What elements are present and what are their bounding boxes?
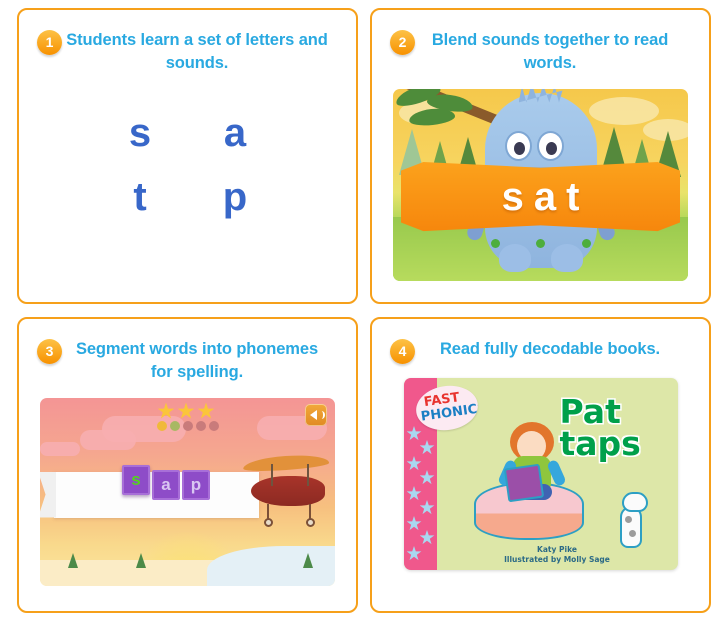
step-card-3: 3 Segment words into phonemes for spelli…: [17, 317, 358, 613]
star-icon: [407, 456, 422, 471]
letter-grid: s a t p: [93, 101, 283, 229]
dog-illustration: [616, 492, 650, 548]
phoneme-dot: [491, 239, 500, 248]
progress-pips: [157, 421, 219, 431]
step-number-badge: 4: [390, 339, 415, 364]
banner-letter: s: [502, 177, 524, 217]
card-header: 1 Students learn a set of letters and so…: [19, 10, 356, 75]
star-icon: [420, 470, 435, 485]
dog-head: [622, 492, 648, 512]
star-icon: [407, 546, 422, 561]
tree-shape: [303, 553, 313, 568]
monster-eye: [537, 131, 564, 161]
book-title-line-2: taps: [560, 428, 672, 460]
dog-body: [620, 506, 642, 548]
plane-wheel: [264, 518, 273, 527]
plane-wheel: [306, 518, 315, 527]
cloud-shape: [589, 97, 659, 125]
letter-tile: a: [188, 101, 283, 165]
card-header: 2 Blend sounds together to read words.: [372, 10, 709, 75]
progress-pip-empty: [209, 421, 219, 431]
star-icon: [407, 426, 422, 441]
step-card-4: 4 Read fully decodable books. FAST PHONI…: [370, 317, 711, 613]
blending-game-screenshot: s a t: [393, 89, 688, 281]
banner-letter: a: [534, 177, 556, 217]
star-icon: [158, 403, 175, 420]
step-number-badge: 3: [37, 339, 62, 364]
tree-shape: [68, 553, 78, 568]
dog-spot: [625, 516, 632, 523]
plane-body: [251, 476, 325, 506]
progress-pip-empty: [183, 421, 193, 431]
step-number-badge: 2: [390, 30, 415, 55]
word-banner: s a t: [401, 161, 680, 233]
star-icon: [407, 516, 422, 531]
letter-tile: p: [188, 165, 283, 229]
step-title: Blend sounds together to read words.: [415, 29, 693, 75]
star-icon: [420, 500, 435, 515]
step-card-1: 1 Students learn a set of letters and so…: [17, 8, 358, 304]
card-header: 4 Read fully decodable books.: [372, 319, 709, 364]
star-rating: [158, 403, 215, 420]
progress-pip-coin: [157, 421, 167, 431]
star-icon: [178, 403, 195, 420]
book-title: Pat taps: [560, 396, 672, 460]
tree-shape: [136, 553, 146, 568]
cloud-shape: [40, 442, 80, 456]
letter-tile-row: s a p: [122, 470, 210, 500]
dog-spot: [629, 530, 636, 537]
plane-wing: [243, 453, 330, 473]
progress-pip-empty: [196, 421, 206, 431]
monster-leg: [499, 244, 531, 272]
letter-tile: t: [93, 165, 188, 229]
monster-leg: [551, 244, 583, 272]
decodable-book-cover: FAST PHONICS Pat taps: [404, 378, 678, 570]
star-icon: [420, 440, 435, 455]
plane-strut: [307, 464, 309, 486]
step-title: Segment words into phonemes for spelling…: [62, 338, 340, 384]
step-number-badge: 1: [37, 30, 62, 55]
cloud-shape: [80, 430, 136, 450]
speaker-cone-shape: [310, 410, 317, 420]
monster-hair: [519, 89, 563, 103]
letter-tile: s: [93, 101, 188, 165]
banner-letter: t: [566, 177, 579, 217]
progress-pip-complete: [170, 421, 180, 431]
step-title: Read fully decodable books.: [415, 338, 693, 361]
star-icon: [198, 403, 215, 420]
star-icon: [420, 530, 435, 545]
monster-pupil: [514, 142, 525, 155]
letter-tile[interactable]: a: [152, 470, 180, 500]
tablet-illustration: [503, 464, 543, 503]
book-author: Katy Pike: [437, 545, 678, 555]
star-icon: [407, 486, 422, 501]
speaker-wave-shape: [318, 411, 325, 419]
phoneme-dots: [491, 239, 591, 248]
segmenting-game-screenshot: s a p: [40, 398, 335, 586]
speaker-icon[interactable]: [305, 404, 327, 426]
letter-tile-dragged[interactable]: s: [122, 465, 150, 495]
steps-grid: 1 Students learn a set of letters and so…: [0, 0, 728, 621]
book-illustrator: Illustrated by Molly Sage: [437, 555, 678, 565]
letter-tile[interactable]: p: [182, 470, 210, 500]
step-title: Students learn a set of letters and soun…: [62, 29, 340, 75]
girl-illustration: [504, 422, 558, 498]
plane-strut: [271, 464, 273, 486]
monster-pupil: [546, 142, 557, 155]
step-card-2: 2 Blend sounds together to read words.: [370, 8, 711, 304]
monster-eye: [505, 131, 532, 161]
phoneme-dot: [582, 239, 591, 248]
book-credits: Katy Pike Illustrated by Molly Sage: [437, 545, 678, 565]
card-header: 3 Segment words into phonemes for spelli…: [19, 319, 356, 384]
phoneme-dot: [536, 239, 545, 248]
